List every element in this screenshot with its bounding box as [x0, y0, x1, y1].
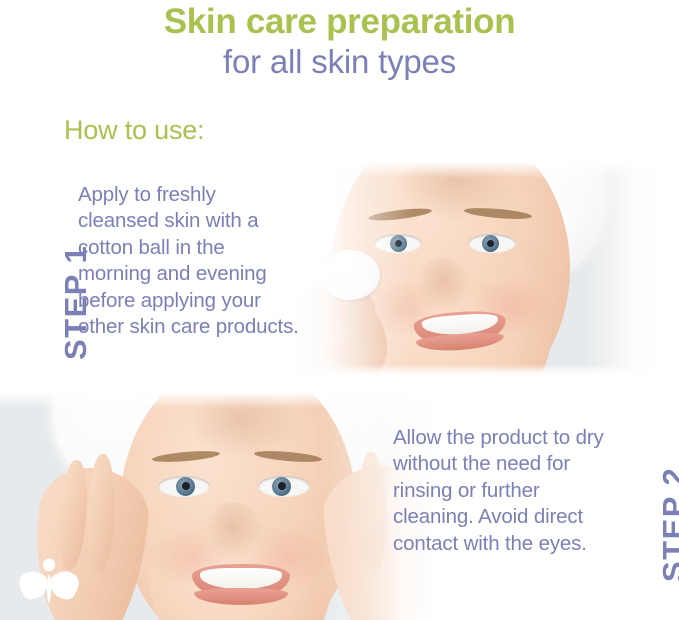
how-to-use-heading: How to use: [64, 114, 204, 146]
infographic-page: Skin care preparation for all skin types… [0, 0, 679, 620]
step-2-text: Allow the product to dry without the nee… [393, 425, 621, 557]
step-1-photo [246, 162, 679, 378]
header: Skin care preparation for all skin types [0, 0, 679, 100]
page-title: Skin care preparation [0, 1, 679, 43]
page-subtitle: for all skin types [0, 42, 679, 82]
butterfly-leaf-logo [18, 554, 80, 608]
step-1-text: Apply to freshly cleansed skin with a co… [78, 182, 302, 340]
step-2-label: STEP 2 [656, 467, 679, 582]
